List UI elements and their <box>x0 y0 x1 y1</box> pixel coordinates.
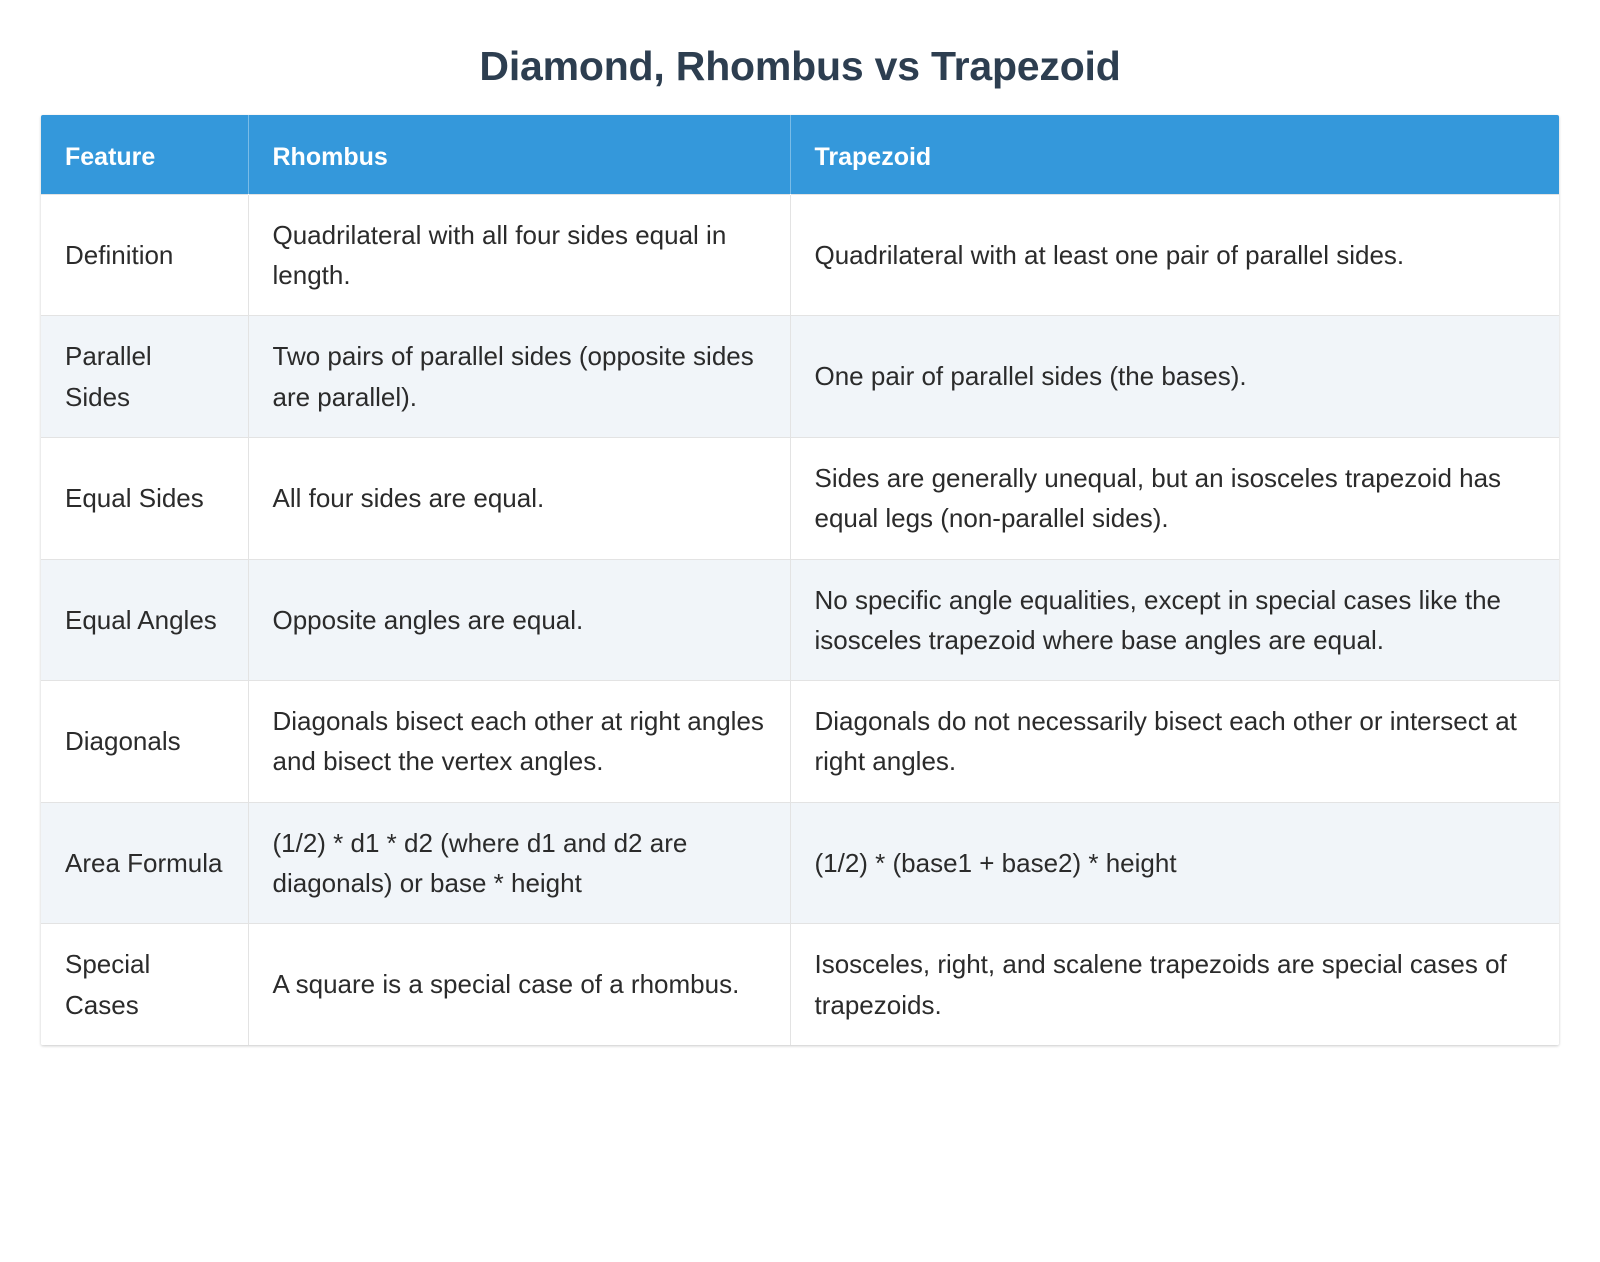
cell-trapezoid: One pair of parallel sides (the bases). <box>790 316 1559 438</box>
page-root: Diamond, Rhombus vs Trapezoid Feature Rh… <box>0 0 1600 1262</box>
table-row: Area Formula (1/2) * d1 * d2 (where d1 a… <box>41 802 1559 924</box>
cell-feature: Definition <box>41 194 248 316</box>
cell-feature: Equal Angles <box>41 559 248 681</box>
cell-rhombus: Two pairs of parallel sides (opposite si… <box>248 316 790 438</box>
cell-trapezoid: Diagonals do not necessarily bisect each… <box>790 681 1559 803</box>
cell-feature: Special Cases <box>41 924 248 1045</box>
table-row: Definition Quadrilateral with all four s… <box>41 194 1559 316</box>
table-header-row: Feature Rhombus Trapezoid <box>41 115 1559 194</box>
comparison-table-card: Feature Rhombus Trapezoid Definition Qua… <box>41 115 1559 1045</box>
cell-trapezoid: Quadrilateral with at least one pair of … <box>790 194 1559 316</box>
page-title: Diamond, Rhombus vs Trapezoid <box>0 0 1600 91</box>
table-row: Diagonals Diagonals bisect each other at… <box>41 681 1559 803</box>
cell-trapezoid: (1/2) * (base1 + base2) * height <box>790 802 1559 924</box>
cell-feature: Parallel Sides <box>41 316 248 438</box>
cell-rhombus: A square is a special case of a rhombus. <box>248 924 790 1045</box>
cell-rhombus: Opposite angles are equal. <box>248 559 790 681</box>
cell-rhombus: All four sides are equal. <box>248 437 790 559</box>
cell-rhombus: Quadrilateral with all four sides equal … <box>248 194 790 316</box>
cell-trapezoid: Isosceles, right, and scalene trapezoids… <box>790 924 1559 1045</box>
cell-feature: Diagonals <box>41 681 248 803</box>
cell-feature: Area Formula <box>41 802 248 924</box>
table-row: Parallel Sides Two pairs of parallel sid… <box>41 316 1559 438</box>
table-row: Special Cases A square is a special case… <box>41 924 1559 1045</box>
comparison-table: Feature Rhombus Trapezoid Definition Qua… <box>41 115 1559 1045</box>
column-header-feature: Feature <box>41 115 248 194</box>
cell-feature: Equal Sides <box>41 437 248 559</box>
table-header: Feature Rhombus Trapezoid <box>41 115 1559 194</box>
cell-trapezoid: No specific angle equalities, except in … <box>790 559 1559 681</box>
cell-trapezoid: Sides are generally unequal, but an isos… <box>790 437 1559 559</box>
cell-rhombus: (1/2) * d1 * d2 (where d1 and d2 are dia… <box>248 802 790 924</box>
column-header-rhombus: Rhombus <box>248 115 790 194</box>
column-header-trapezoid: Trapezoid <box>790 115 1559 194</box>
cell-rhombus: Diagonals bisect each other at right ang… <box>248 681 790 803</box>
table-row: Equal Angles Opposite angles are equal. … <box>41 559 1559 681</box>
table-body: Definition Quadrilateral with all four s… <box>41 194 1559 1045</box>
table-row: Equal Sides All four sides are equal. Si… <box>41 437 1559 559</box>
